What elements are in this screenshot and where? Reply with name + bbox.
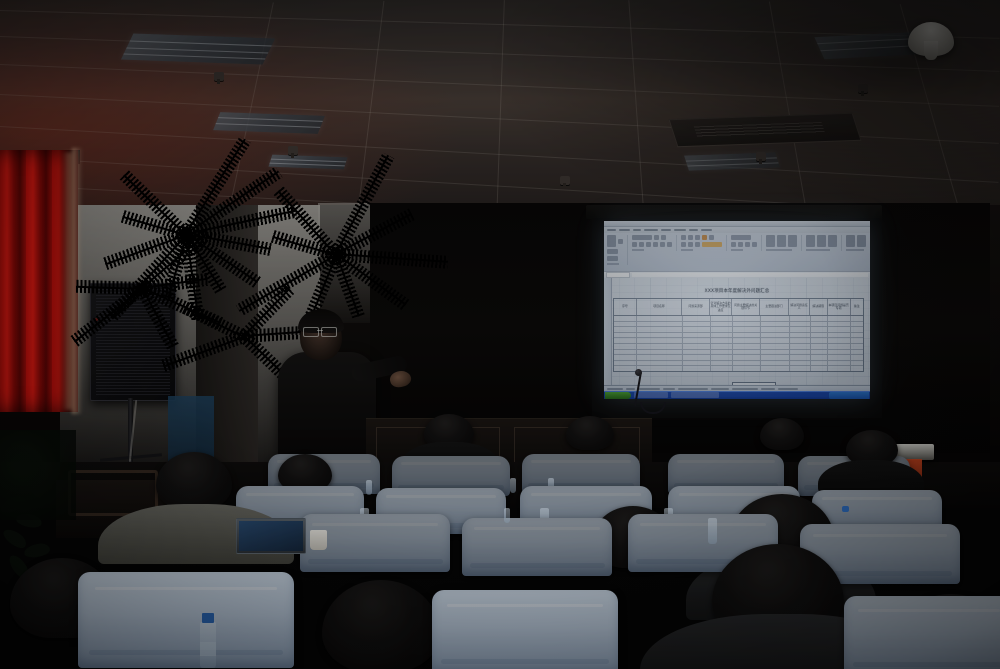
table-header-cell: 主要跟进部门 <box>760 299 790 315</box>
attendee-head <box>322 580 440 669</box>
windows-taskbar[interactable] <box>604 391 870 399</box>
attendee-head <box>566 416 614 450</box>
start-button[interactable] <box>605 392 631 399</box>
system-tray[interactable] <box>829 392 869 399</box>
glasses-icon <box>303 327 337 335</box>
ceiling-light-panel <box>213 112 325 134</box>
table-header-cell: 解决期限 <box>810 299 828 315</box>
ceiling-light-panel <box>121 33 275 64</box>
water-bottle[interactable] <box>366 480 372 495</box>
sprinkler-head <box>214 72 224 81</box>
worksheet-grid[interactable]: XXX项目本年度解决外问题汇总 序号 项目名称 问题来源部 针对解决方案的具体工… <box>604 278 870 386</box>
ribbon-group-alignment[interactable] <box>681 235 727 251</box>
taskbar-item[interactable] <box>634 392 668 398</box>
table-header-cell: 问题主要解决的关键环节 <box>732 299 759 315</box>
taskbar-item[interactable] <box>671 392 719 398</box>
table-header-cell: 针对解决方案的具体工作要求及进度 <box>710 299 733 315</box>
projection-screen: XXX项目本年度解决外问题汇总 序号 项目名称 问题来源部 针对解决方案的具体工… <box>604 221 870 399</box>
seat-with-blue-cover[interactable] <box>462 518 612 576</box>
pa-speaker <box>90 283 176 401</box>
speaker-power-led <box>95 318 98 321</box>
ribbon-group-styles[interactable] <box>766 235 802 251</box>
water-bottle[interactable] <box>200 622 216 668</box>
curtain-edge-glow <box>62 152 72 410</box>
sprinkler-head <box>288 146 298 155</box>
sheet-title: XXX项目本年度解决外问题汇总 <box>604 288 870 294</box>
microphone-capsule <box>635 369 642 376</box>
ribbon-group-cells[interactable] <box>806 235 842 251</box>
wall-lit-section <box>318 203 370 323</box>
laptop-screen <box>239 521 303 551</box>
water-bottle[interactable] <box>504 508 510 523</box>
formula-input[interactable] <box>632 273 868 277</box>
ribbon-group-number[interactable] <box>731 235 762 251</box>
seat-with-blue-cover[interactable] <box>78 572 294 668</box>
spreadsheet-ribbon[interactable] <box>604 233 870 272</box>
suspended-ceiling <box>0 0 1000 215</box>
table-header-cell: 序号 <box>614 299 637 315</box>
ribbon-group-clipboard[interactable] <box>607 235 628 265</box>
table-header-cell: 项目名称 <box>637 299 683 315</box>
water-bottle-cap[interactable] <box>842 506 849 512</box>
water-bottle[interactable] <box>708 518 717 544</box>
conference-room-photo: XXX项目本年度解决外问题汇总 序号 项目名称 问题来源部 针对解决方案的具体工… <box>0 0 1000 669</box>
laptop[interactable] <box>236 518 306 554</box>
seat-with-blue-cover[interactable] <box>432 590 618 669</box>
foliage-mass <box>0 430 76 520</box>
attendee-head <box>156 452 232 510</box>
table-header-cell: 问题来源部 <box>682 299 709 315</box>
ribbon-group-font[interactable] <box>632 235 677 251</box>
ribbon-group-editing[interactable] <box>846 235 870 251</box>
attendee-shoulders <box>818 460 924 494</box>
seat-with-blue-cover[interactable] <box>844 596 1000 669</box>
row-header-column[interactable] <box>604 278 612 386</box>
attendee-head <box>760 418 804 450</box>
ceiling-shadow <box>480 0 1000 215</box>
table-row[interactable] <box>614 366 863 371</box>
paper-cup[interactable] <box>310 530 327 550</box>
water-bottle[interactable] <box>510 478 516 493</box>
table-header-cell: 解决问题责任人 <box>789 299 809 315</box>
sheet-table-body[interactable] <box>614 316 863 371</box>
sheet-table-header-row: 序号 项目名称 问题来源部 针对解决方案的具体工作要求及进度 问题主要解决的关键… <box>614 299 863 316</box>
speaker-grille <box>96 289 170 395</box>
wall-corner-highlight <box>72 148 82 414</box>
table-header-cell: 本项目问题是否专项 <box>828 299 851 315</box>
sheet-table[interactable]: 序号 项目名称 问题来源部 针对解决方案的具体工作要求及进度 问题主要解决的关键… <box>613 298 864 372</box>
table-header-cell: 备注 <box>851 299 864 315</box>
